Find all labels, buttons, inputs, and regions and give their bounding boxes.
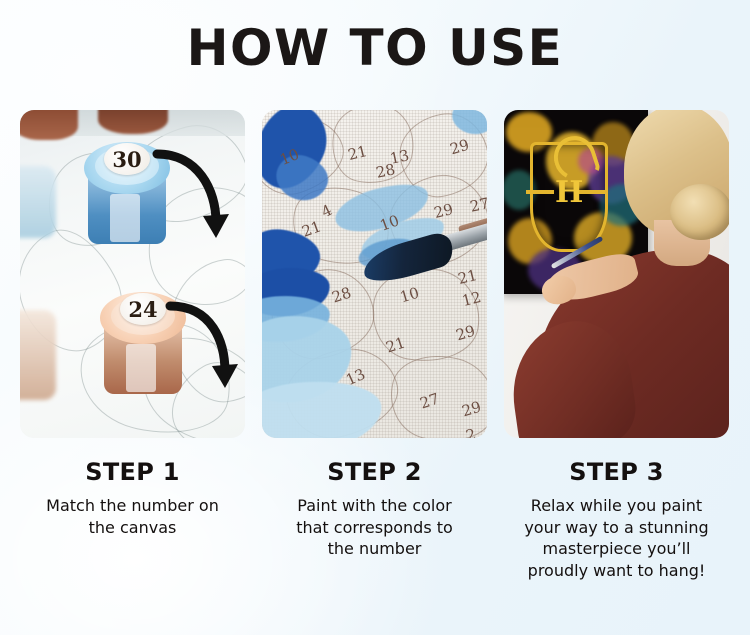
step-card-2: 10 21 28 13 29 10 4 21 29 27 28 10 21 12…: [262, 110, 487, 581]
step-1-title: STEP 1: [20, 458, 245, 486]
hair-bun: [670, 184, 729, 240]
curved-arrow-icon: [157, 154, 216, 222]
step-1-caption: STEP 1 Match the number on the canvas: [20, 458, 245, 538]
step-3-title: STEP 3: [504, 458, 729, 486]
canvas-number: 27: [468, 194, 487, 216]
step-2-title: STEP 2: [262, 458, 487, 486]
step-1-description: Match the number on the canvas: [20, 495, 245, 538]
arrow-head-icon: [203, 214, 229, 238]
arrow-overlay: [20, 110, 245, 438]
steps-row: 30 24 STEP 1: [20, 110, 730, 581]
step-2-description: Paint with the color that corresponds to…: [262, 495, 487, 560]
step-1-image: 30 24: [20, 110, 245, 438]
crest-letter: H: [555, 180, 579, 206]
step-3-description: Relax while you paint your way to a stun…: [504, 495, 729, 581]
step-3-caption: STEP 3 Relax while you paint your way to…: [504, 458, 729, 581]
step-card-3: H STEP 3 Relax while you paint your way …: [504, 110, 729, 581]
step-2-image: 10 21 28 13 29 10 4 21 29 27 28 10 21 12…: [262, 110, 487, 438]
crest-bar: [526, 190, 554, 194]
curved-arrow-icon: [170, 306, 225, 372]
arrow-head-icon: [212, 364, 238, 388]
page-title: HOW TO USE: [0, 22, 750, 75]
step-2-caption: STEP 2 Paint with the color that corresp…: [262, 458, 487, 560]
step-card-1: 30 24 STEP 1: [20, 110, 245, 581]
how-to-use-infographic: HOW TO USE: [0, 0, 750, 635]
step-3-image: H: [504, 110, 729, 438]
